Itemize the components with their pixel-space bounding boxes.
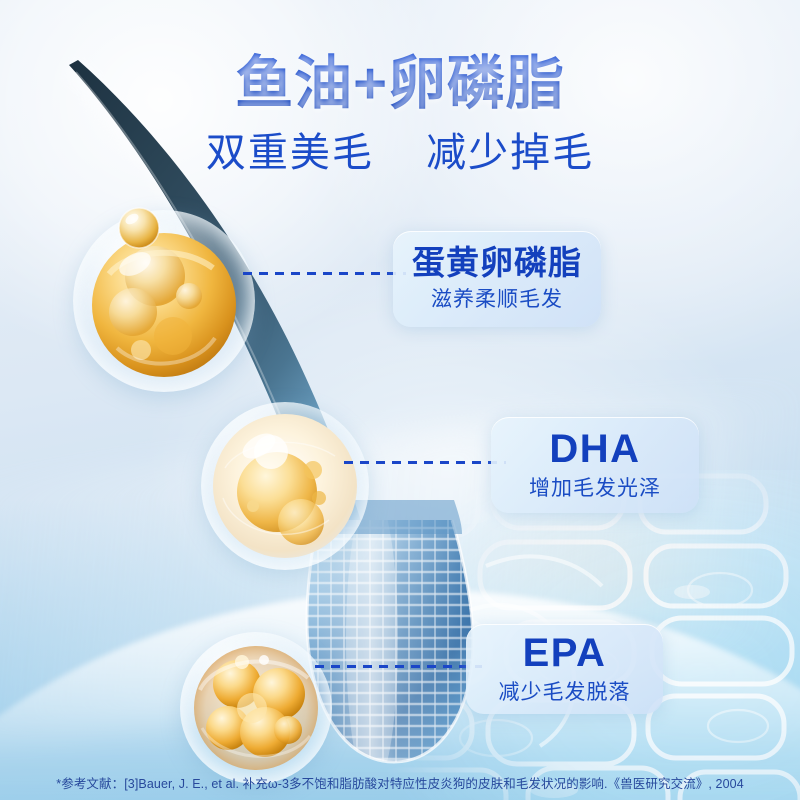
callout-card-epa[interactable]: EPA 减少毛发脱落 [466, 624, 663, 714]
callout-subtitle-epa: 减少毛发脱落 [499, 681, 631, 705]
headline-block: 鱼油+卵磷脂 双重美毛 减少掉毛 [0, 52, 800, 177]
bubble-oil-bottom [180, 632, 332, 784]
callout-subtitle-dha: 增加毛发光泽 [529, 477, 661, 501]
product-poster: 鱼油+卵磷脂 双重美毛 减少掉毛 蛋黄卵磷脂 滋养柔顺毛发 DHA 增加毛发光泽… [0, 0, 800, 800]
subtitle-left: 双重美毛 [206, 131, 374, 175]
callout-title-dha: DHA [549, 428, 640, 470]
connector-line-lecithin [243, 272, 406, 275]
connector-line-epa [315, 665, 482, 668]
page-subtitle: 双重美毛 减少掉毛 [0, 129, 800, 177]
subtitle-right: 减少掉毛 [426, 131, 594, 175]
bubble-small-top [117, 206, 161, 250]
callout-subtitle-lecithin: 滋养柔顺毛发 [431, 288, 563, 312]
callout-card-lecithin[interactable]: 蛋黄卵磷脂 滋养柔顺毛发 [393, 231, 601, 327]
connector-line-dha [344, 461, 506, 464]
callout-title-epa: EPA [523, 632, 607, 674]
bubble-oil-mid [201, 402, 369, 570]
callout-card-dha[interactable]: DHA 增加毛发光泽 [491, 417, 699, 513]
reference-footnote: *参考文献：[3]Bauer, J. E., et al. 补充ω-3多不饱和脂… [0, 773, 800, 792]
callout-title-lecithin: 蛋黄卵磷脂 [412, 246, 582, 281]
bubble-oil-top [73, 210, 255, 392]
page-title: 鱼油+卵磷脂 [0, 52, 800, 117]
